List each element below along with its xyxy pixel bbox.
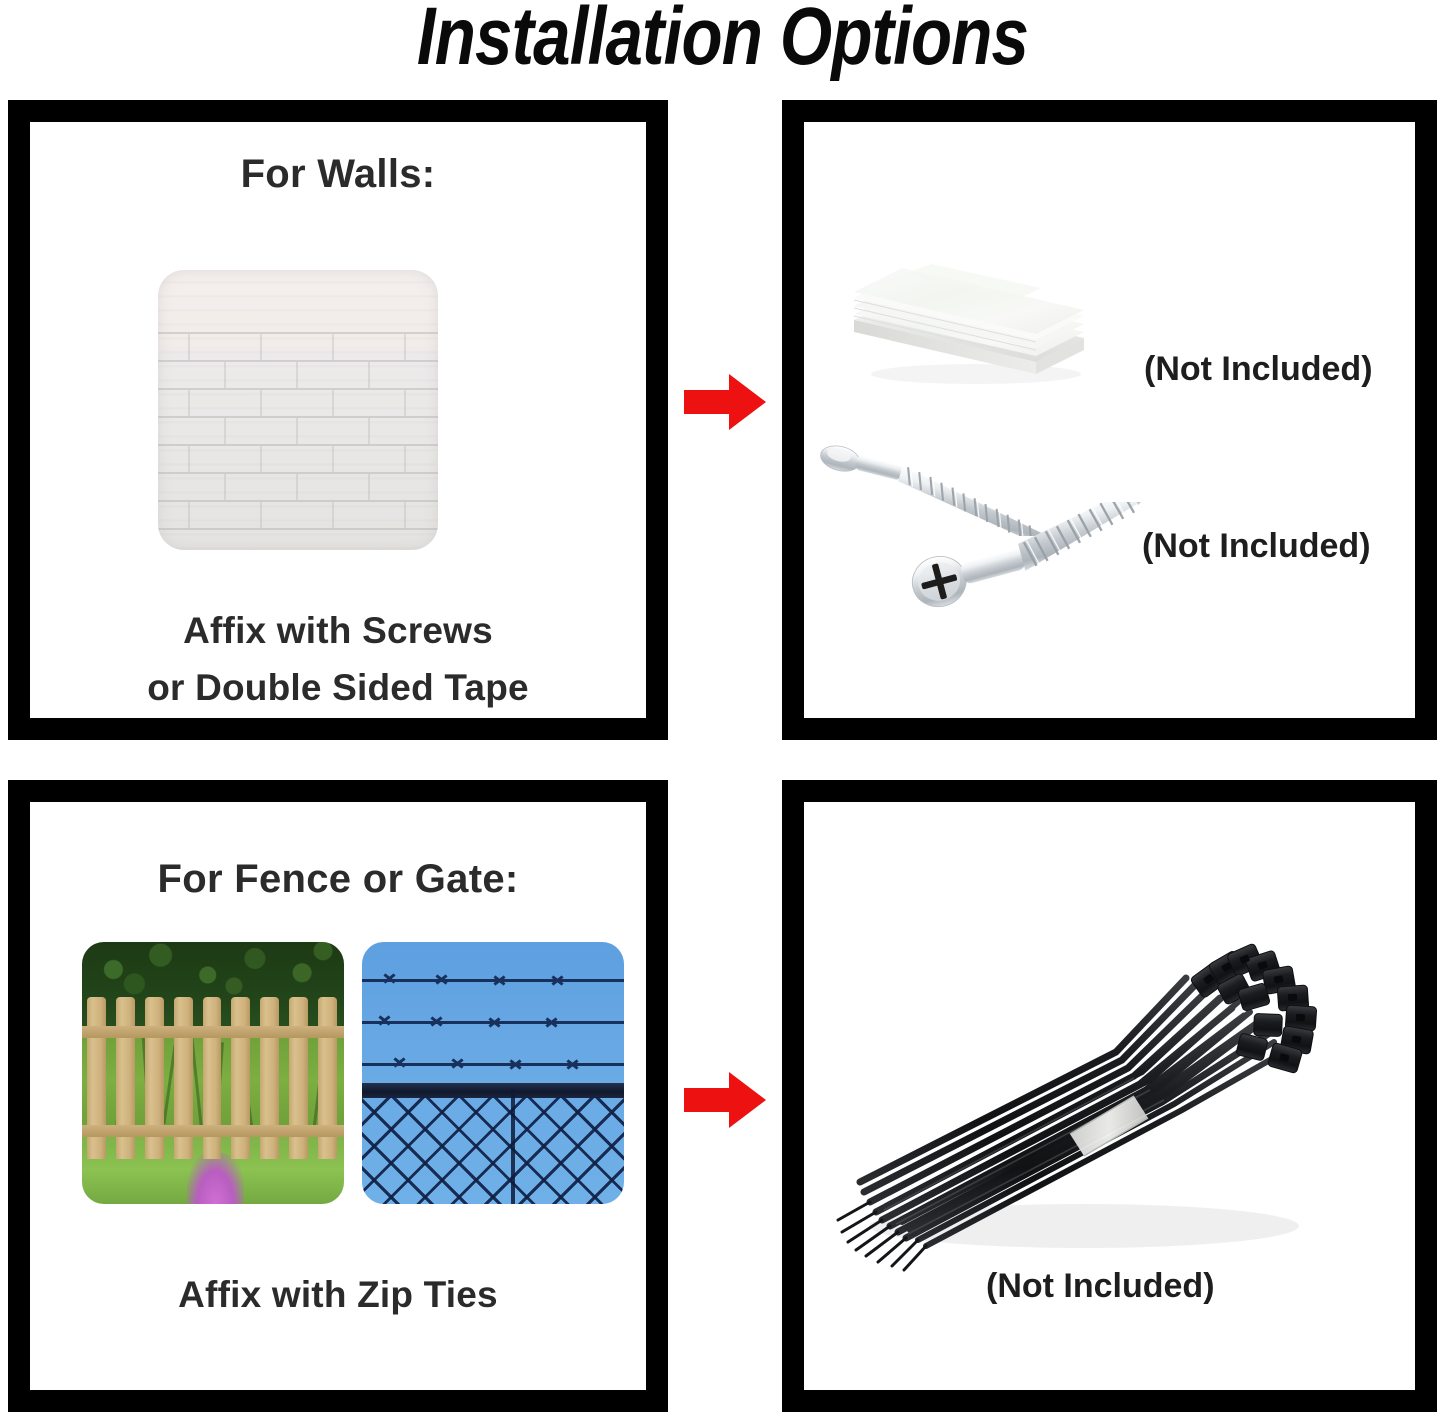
- red-right-arrow-top: [684, 372, 766, 432]
- panel-for-fence-or-gate: For Fence or Gate:: [8, 780, 668, 1412]
- wooden-picket-fence-photo: [82, 942, 344, 1204]
- page-title: Installation Options: [130, 0, 1315, 81]
- walls-caption-line-1: Affix with Screws: [30, 610, 646, 652]
- black-zip-ties-bundle: [834, 890, 1354, 1290]
- walls-heading: For Walls:: [30, 152, 646, 197]
- zip-ties-not-included-label: (Not Included): [986, 1267, 1215, 1306]
- fence-heading: For Fence or Gate:: [30, 857, 646, 902]
- panel-fence-hardware: (Not Included): [782, 780, 1437, 1412]
- chain-link-barbed-wire-fence-photo: [362, 942, 624, 1204]
- panel-for-walls: For Walls:: [8, 100, 668, 740]
- walls-caption-line-2: or Double Sided Tape: [30, 667, 646, 709]
- white-brick-wall-swatch: [158, 270, 438, 550]
- red-right-arrow-bottom: [684, 1070, 766, 1130]
- tape-not-included-label: (Not Included): [1144, 350, 1373, 389]
- double-sided-tape-stack: [836, 234, 1094, 386]
- screw-not-included-label: (Not Included): [1142, 527, 1371, 566]
- fence-caption: Affix with Zip Ties: [30, 1274, 646, 1316]
- panel-wall-hardware: (Not Included): [782, 100, 1437, 740]
- installation-options-infographic: Installation Options For Walls:: [0, 0, 1445, 1422]
